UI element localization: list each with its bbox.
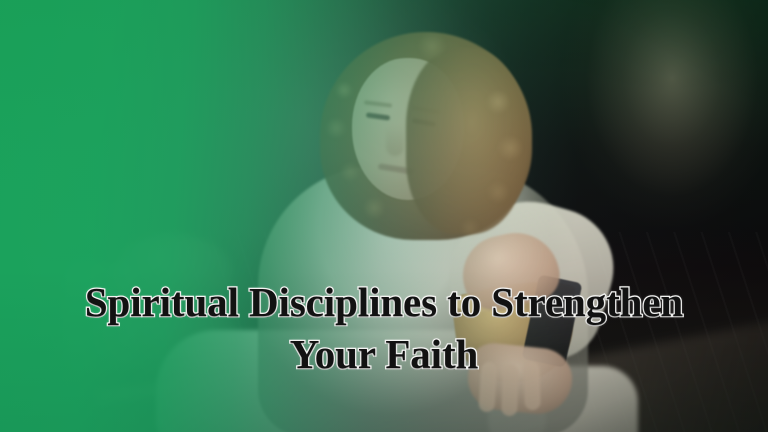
background-photo — [0, 0, 768, 432]
banner-image: Spiritual Disciplines to Strengthen Your… — [0, 0, 768, 432]
singing-bowl-group — [456, 262, 626, 412]
finger-3 — [523, 362, 541, 411]
hair-curls — [320, 32, 532, 244]
finger-2 — [501, 364, 519, 417]
